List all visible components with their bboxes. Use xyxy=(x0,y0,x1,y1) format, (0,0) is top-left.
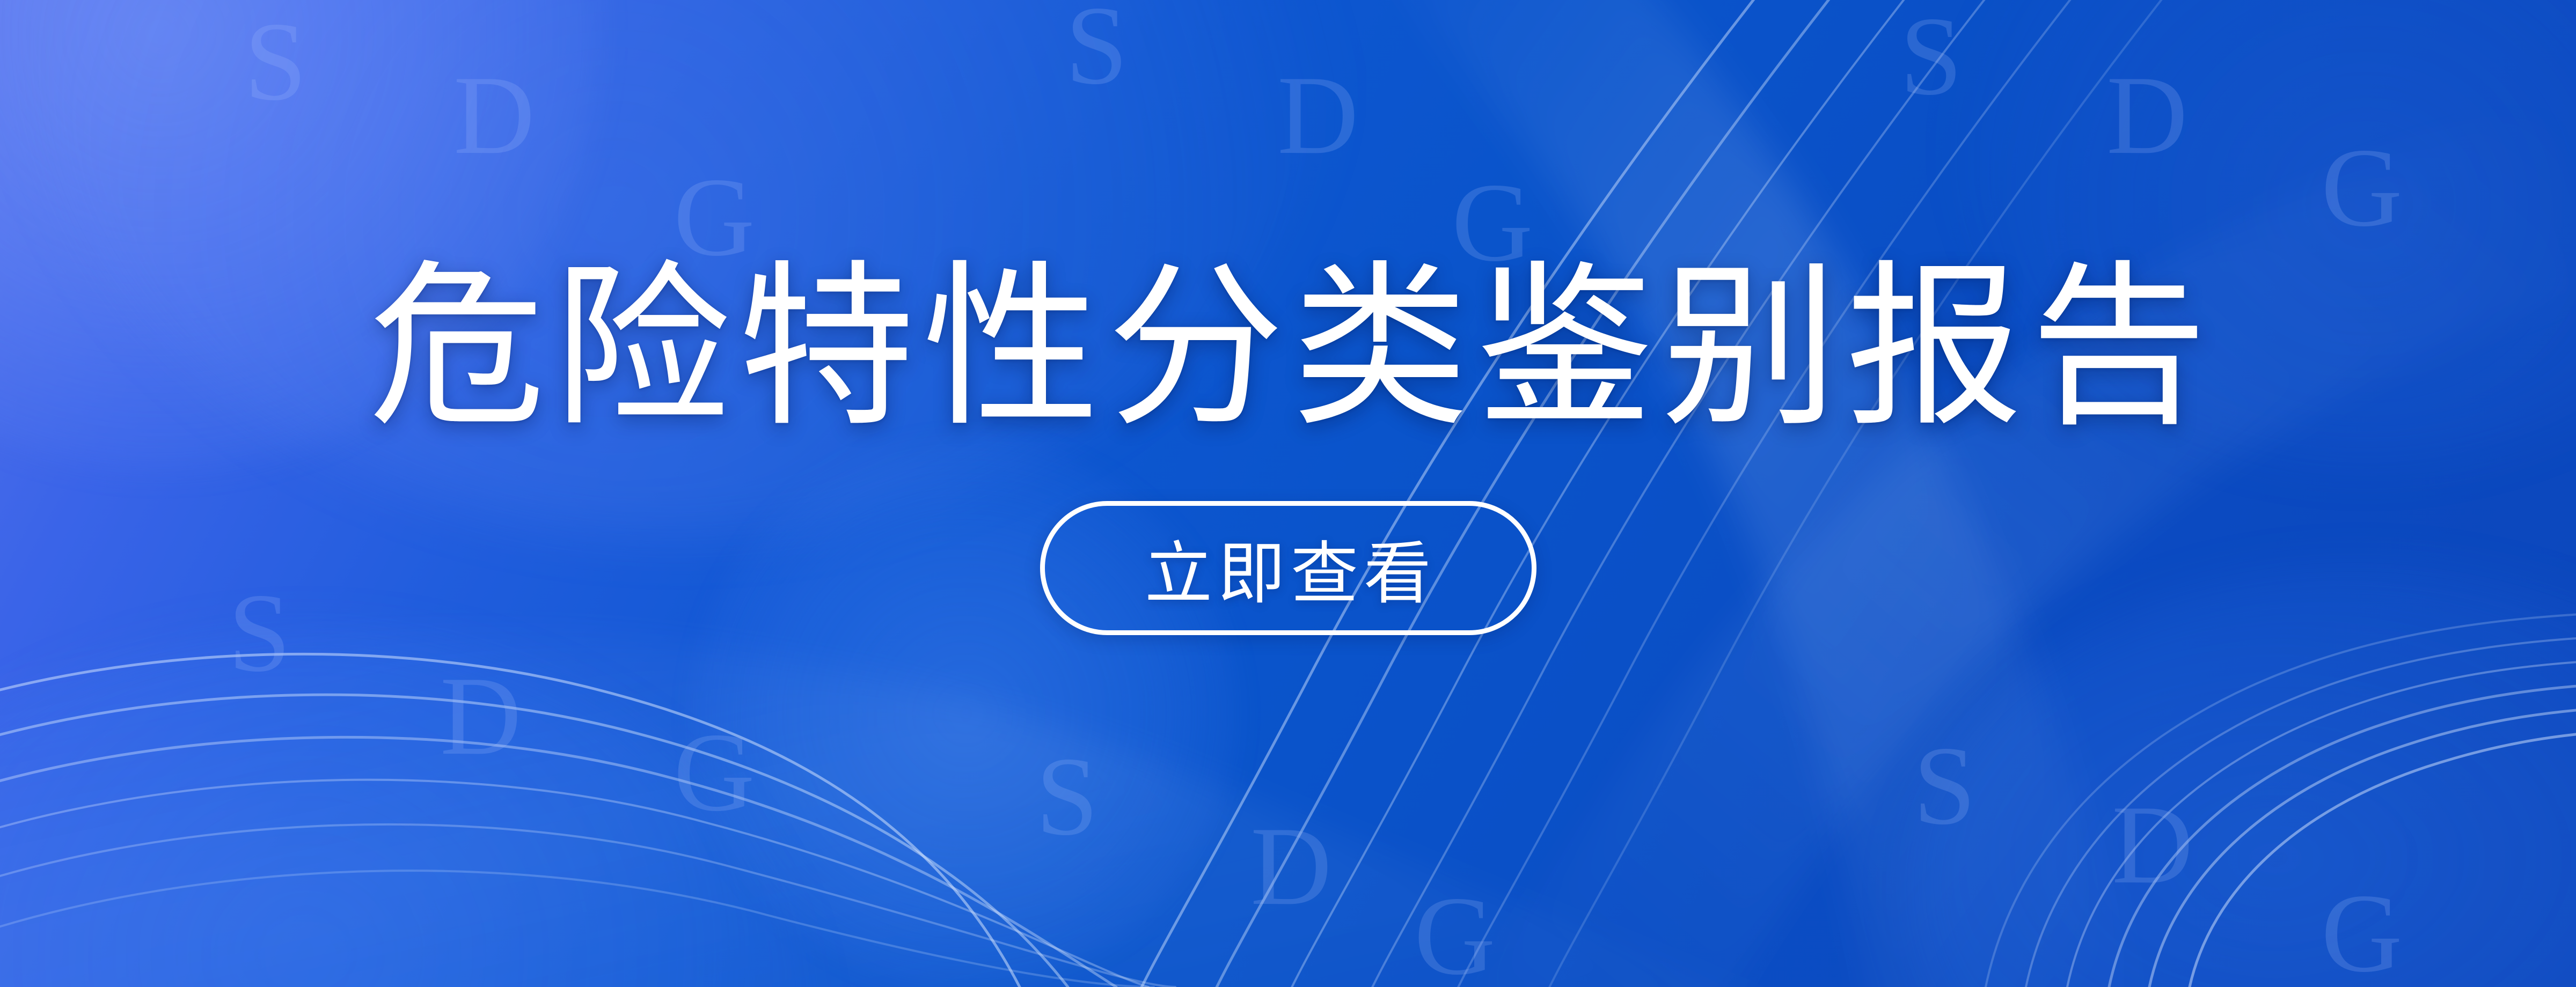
promo-banner: SDGSDGSDGSDGSDGSDG 危险特性分类鉴别报告 立即查看 xyxy=(0,0,2576,987)
banner-content: 危险特性分类鉴别报告 立即查看 xyxy=(0,0,2576,987)
page-title: 危险特性分类鉴别报告 xyxy=(361,252,2215,443)
view-now-button[interactable]: 立即查看 xyxy=(1040,501,1536,635)
view-now-button-label: 立即查看 xyxy=(1139,519,1437,617)
